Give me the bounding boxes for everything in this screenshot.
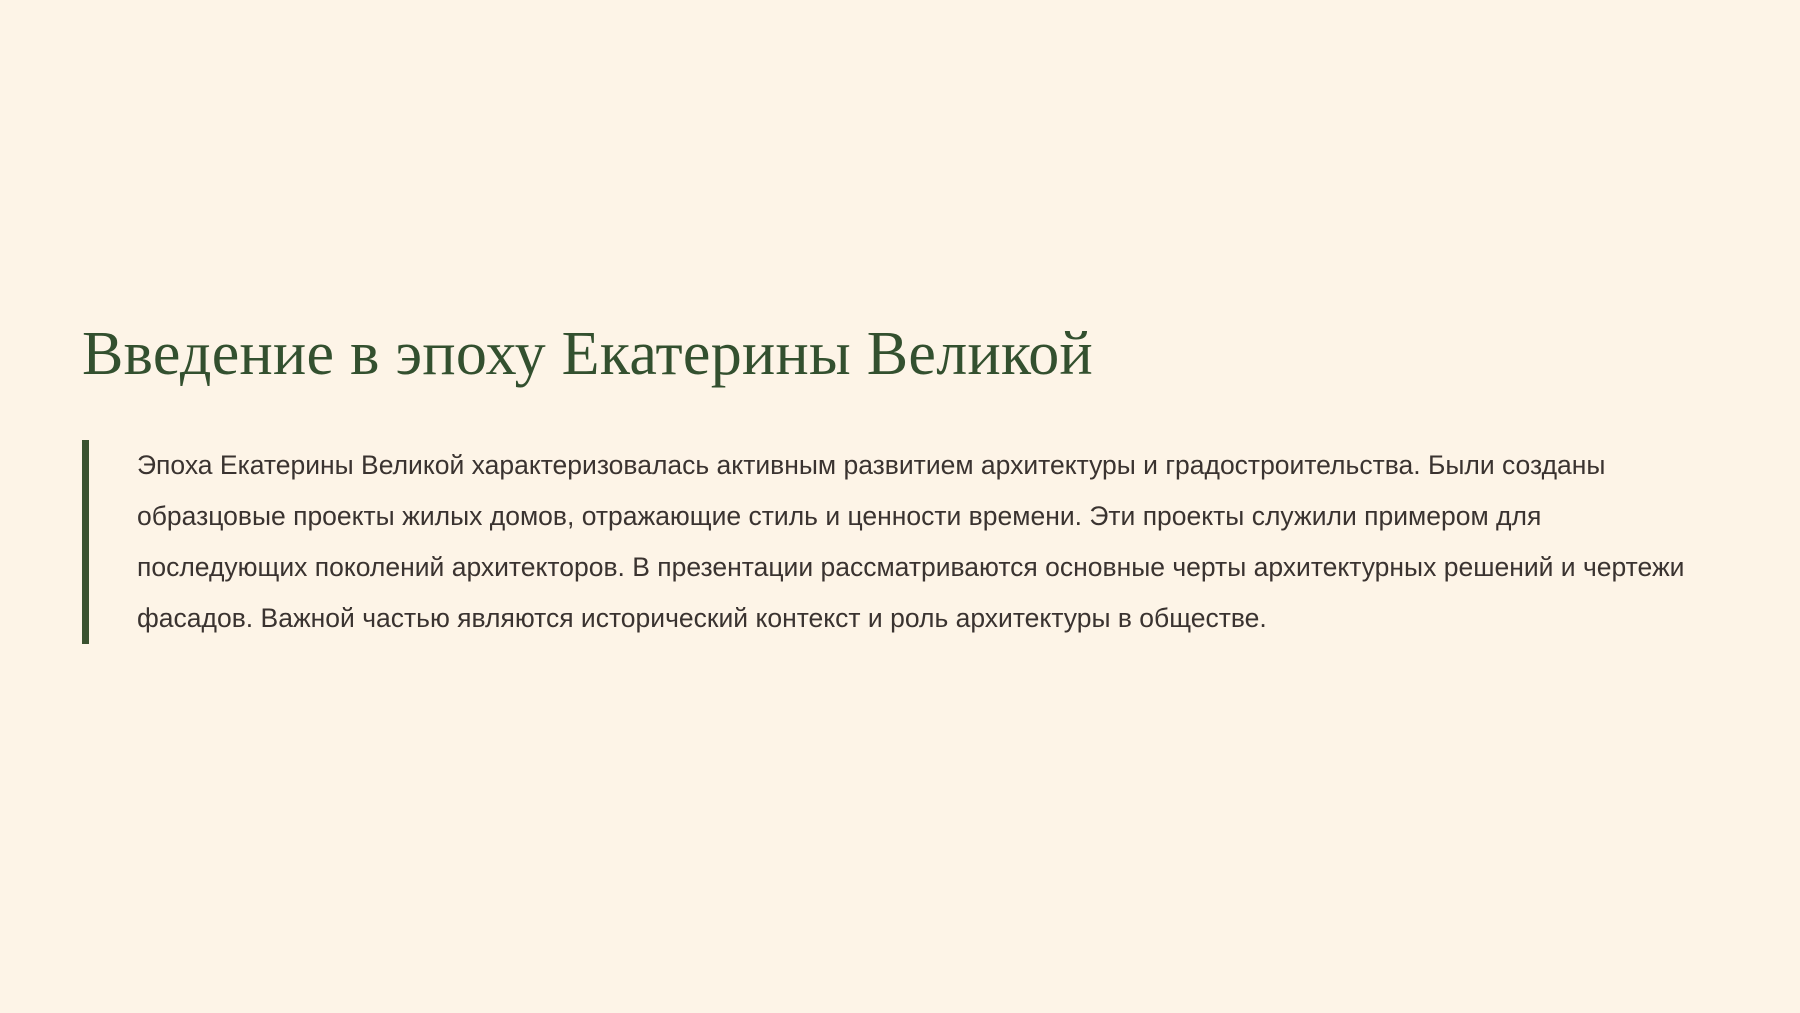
page-title: Введение в эпоху Екатерины Великой xyxy=(82,320,1702,388)
body-quote-block: Эпоха Екатерины Великой характеризовалас… xyxy=(82,440,1702,644)
accent-bar xyxy=(82,440,89,644)
slide-root: Введение в эпоху Екатерины Великой Эпоха… xyxy=(0,0,1800,1013)
slide-content: Введение в эпоху Екатерины Великой Эпоха… xyxy=(82,320,1702,644)
body-paragraph: Эпоха Екатерины Великой характеризовалас… xyxy=(89,440,1702,644)
